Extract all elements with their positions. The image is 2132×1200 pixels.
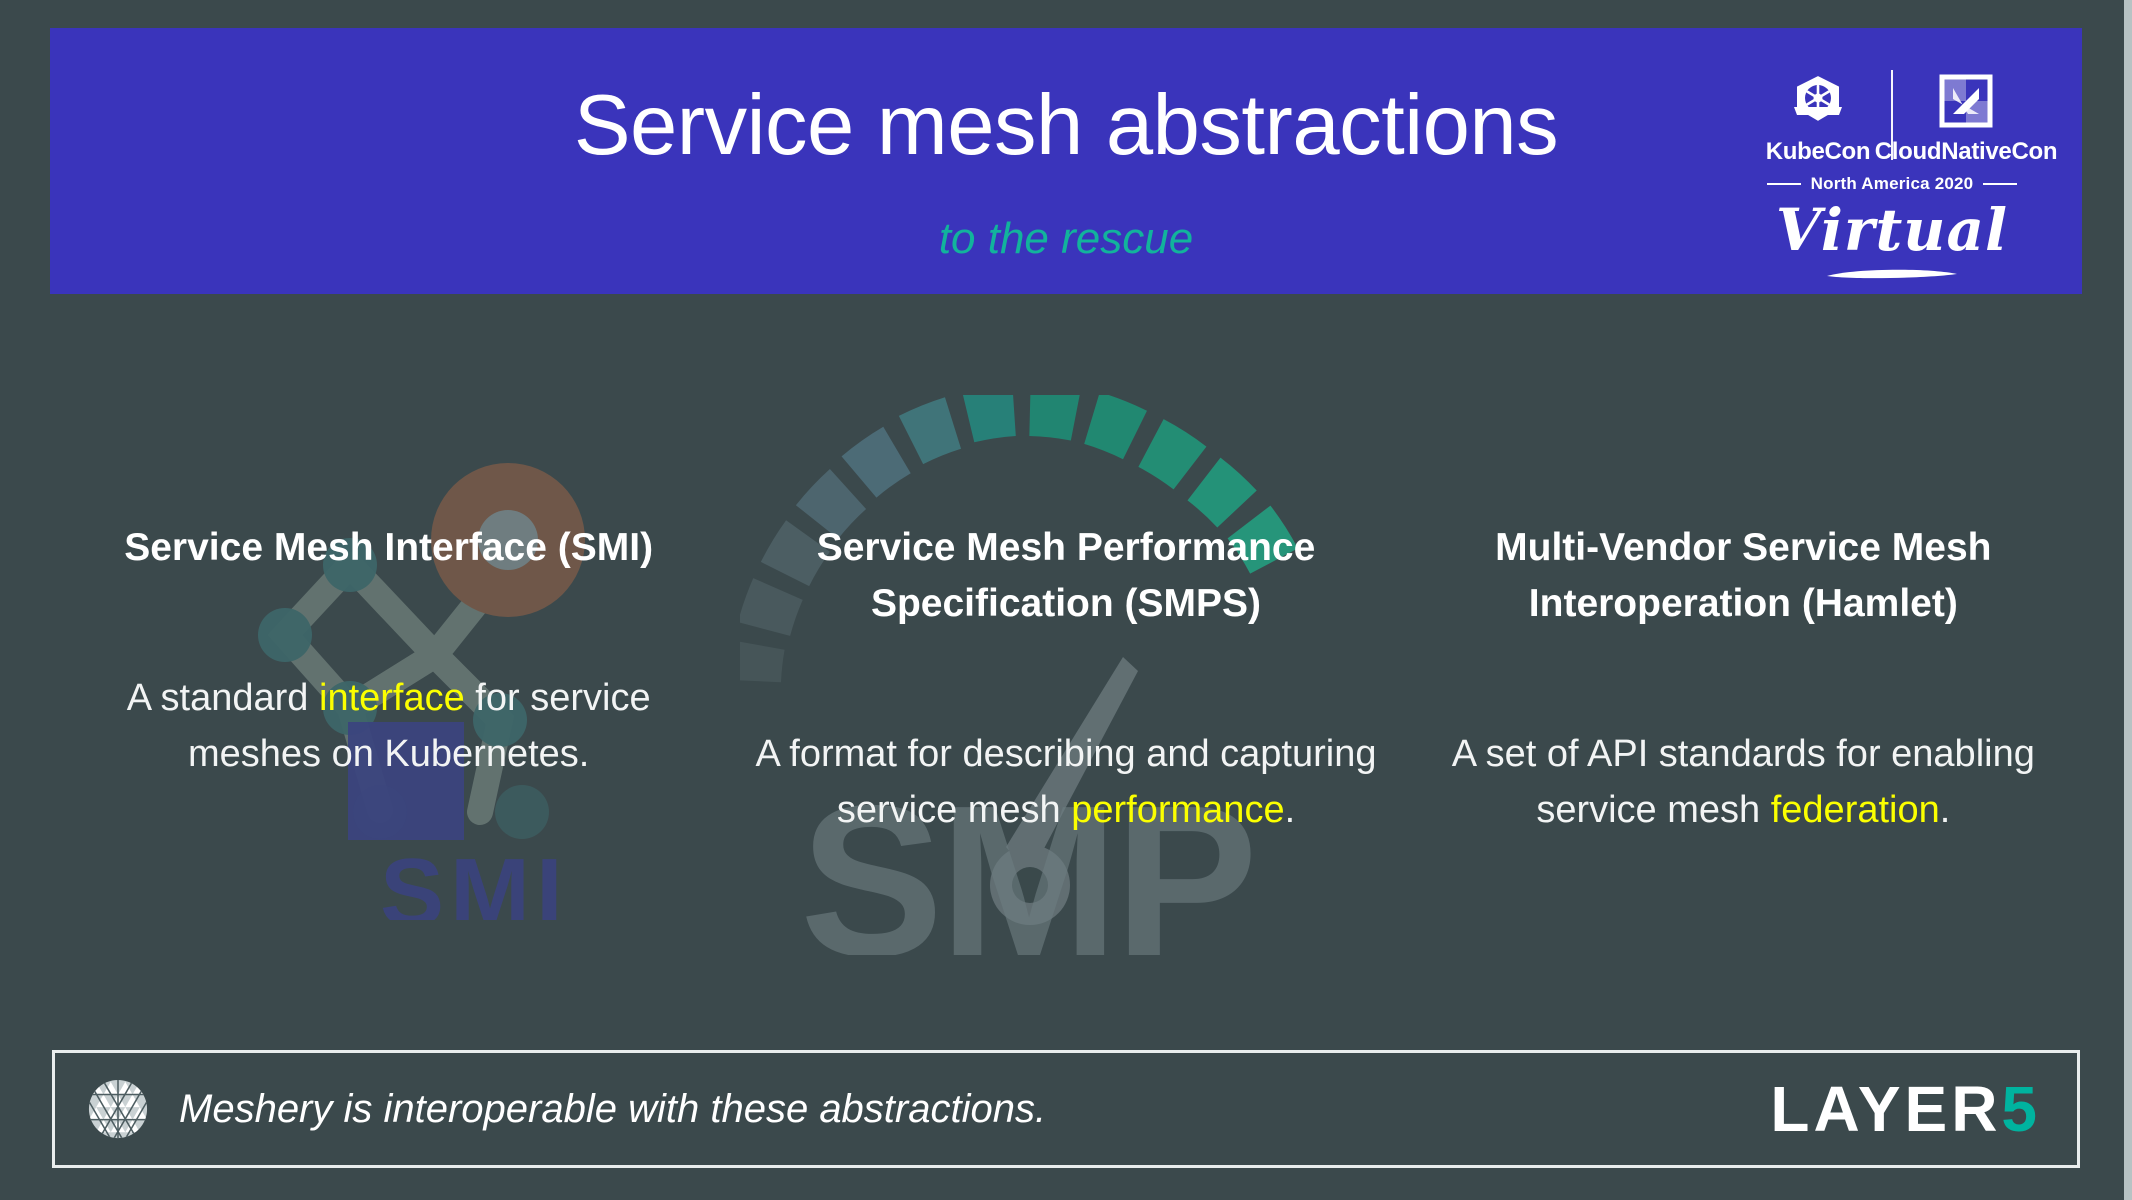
column-smi-body: A standard interface for service meshes … [78, 576, 699, 782]
column-smi-title: Service Mesh Interface (SMI) [78, 520, 699, 576]
kubecon-block: KubeCon [1753, 70, 1883, 166]
footer-message: Meshery is interoperable with these abst… [179, 1087, 1046, 1132]
column-smi-body-highlight: interface [319, 677, 465, 719]
column-hamlet-title: Multi-Vendor Service Mesh Interoperation… [1433, 520, 2054, 632]
layer5-wordmark: LAYER [1770, 1072, 2001, 1146]
column-smps: Service Mesh Performance Specification (… [727, 520, 1404, 940]
column-smi-body-before: A standard [127, 677, 319, 719]
abstractions-columns: Service Mesh Interface (SMI) A standard … [50, 520, 2082, 940]
cloud-native-computing-foundation-icon [1937, 70, 1995, 132]
kubecon-logo-row: KubeCon CloudNativeCon [1747, 70, 2037, 185]
conference-region-label: North America 2020 [1811, 174, 1974, 194]
cloudnativecon-label: CloudNativeCon [1875, 138, 2057, 166]
region-rule-left [1767, 183, 1801, 185]
region-rule-right [1983, 183, 2017, 185]
meshery-mesh-circle-icon [87, 1078, 149, 1140]
column-hamlet-body-after: . [1940, 789, 1951, 831]
right-edge-strip [2124, 0, 2132, 1200]
conference-virtual-label: Virtual [1747, 196, 2037, 264]
footer-bar: Meshery is interoperable with these abst… [52, 1050, 2080, 1168]
logo-divider [1891, 70, 1893, 160]
header-banner: Service mesh abstractions to the rescue [50, 28, 2082, 294]
column-hamlet-body: A set of API standards for enabling serv… [1433, 632, 2054, 838]
kubecon-label: KubeCon [1766, 138, 1871, 166]
column-hamlet: Multi-Vendor Service Mesh Interoperation… [1405, 520, 2082, 940]
column-hamlet-body-highlight: federation [1771, 789, 1940, 831]
column-smps-body-after: . [1285, 789, 1296, 831]
kubernetes-helm-wheel-icon [1789, 70, 1847, 132]
layer5-digit: 5 [2001, 1072, 2039, 1146]
column-smps-body-highlight: performance [1071, 789, 1284, 831]
virtual-underline-swoosh [1825, 267, 1959, 281]
slide-canvas: SMI SMP [0, 0, 2132, 1200]
column-smps-body: A format for describing and capturing se… [755, 632, 1376, 838]
conference-region-row: North America 2020 [1747, 174, 2037, 194]
column-smi: Service Mesh Interface (SMI) A standard … [50, 520, 727, 940]
kubecon-cloudnativecon-logo: KubeCon CloudNativeCon [1747, 62, 2037, 292]
layer5-logo: LAYER5 [1770, 1072, 2039, 1146]
column-smps-title: Service Mesh Performance Specification (… [755, 520, 1376, 632]
cloudnativecon-block: CloudNativeCon [1901, 70, 2031, 166]
